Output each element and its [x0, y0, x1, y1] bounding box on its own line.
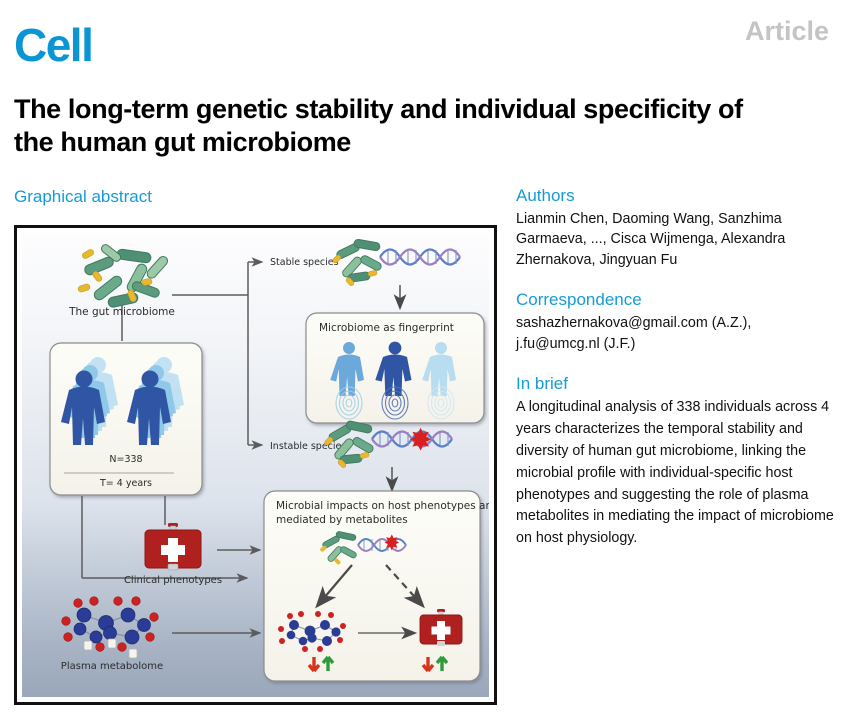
article-first-page: Cell Article The long-term genetic stabi… — [0, 0, 847, 716]
page-title: The long-term genetic stability and indi… — [14, 93, 774, 159]
authors-list: Lianmin Chen, Daoming Wang, Sanzhima Gar… — [516, 209, 838, 270]
label-impacts-line2: mediated by metabolites — [276, 514, 408, 526]
label-stable-species: Stable species — [270, 257, 339, 268]
panel-medkit-icon — [420, 609, 462, 646]
correspondence-block: Correspondence sashazhernakova@gmail.com… — [516, 290, 838, 354]
stable-species-illustration — [332, 239, 460, 307]
mutation-marker-icon — [410, 428, 431, 451]
correspondence-emails[interactable]: sashazhernakova@gmail.com (A.Z.), j.fu@u… — [516, 313, 838, 354]
label-cohort-t: T= 4 years — [99, 478, 152, 489]
label-plasma-metabolome: Plasma metabolome — [61, 661, 163, 672]
graphical-abstract-heading: Graphical abstract — [14, 188, 152, 207]
microbial-impacts-panel: Microbial impacts on host phenotypes are… — [264, 491, 489, 681]
graphical-abstract-figure: The gut microbiome — [14, 225, 497, 705]
fingerprint-panel: Microbiome as fingerprint — [306, 313, 484, 423]
plasma-metabolome-illustration — [62, 597, 159, 658]
gut-microbiome-illustration — [77, 243, 169, 308]
label-cohort-n: N=338 — [109, 454, 142, 465]
label-clinical-phenotypes: Clinical phenotypes — [124, 575, 222, 586]
label-gut-microbiome: The gut microbiome — [68, 306, 175, 318]
authors-heading: Authors — [516, 186, 838, 206]
right-column: Authors Lianmin Chen, Daoming Wang, Sanz… — [516, 186, 838, 550]
in-brief-block: In brief A longitudinal analysis of 338 … — [516, 374, 838, 550]
label-microbiome-as-fingerprint: Microbiome as fingerprint — [319, 322, 454, 334]
instable-species-illustration — [324, 420, 452, 489]
correspondence-heading: Correspondence — [516, 290, 838, 310]
cohort-panel: N=338 T= 4 years — [50, 343, 202, 495]
authors-block: Authors Lianmin Chen, Daoming Wang, Sanz… — [516, 186, 838, 270]
in-brief-text: A longitudinal analysis of 338 individua… — [516, 397, 838, 550]
cell-logo: Cell — [14, 22, 92, 68]
article-type-label: Article — [745, 18, 829, 45]
clinical-phenotypes-illustration — [145, 523, 201, 570]
label-impacts-line1: Microbial impacts on host phenotypes are — [276, 500, 489, 512]
figure-canvas: The gut microbiome — [22, 233, 489, 697]
in-brief-heading: In brief — [516, 374, 838, 394]
label-instable-species: Instable species — [270, 441, 346, 452]
